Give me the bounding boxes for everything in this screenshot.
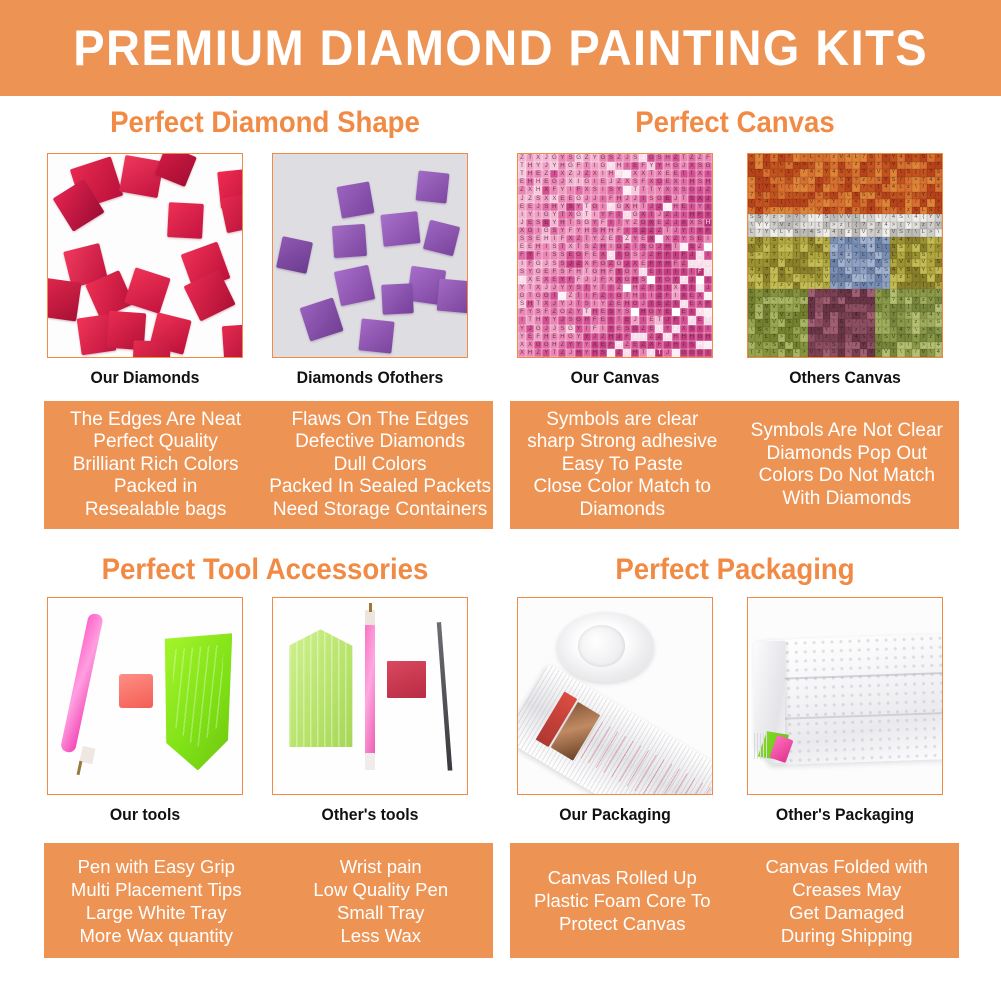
section-heading-diamond-shape: Perfect Diamond Shape xyxy=(58,106,472,140)
panel-line: Easy To Paste xyxy=(562,454,683,477)
panel-line: Pen with Easy Grip xyxy=(78,855,235,878)
red-diamonds-art xyxy=(48,154,242,357)
panel-line: Wrist pain xyxy=(340,855,422,878)
photo-others-packaging xyxy=(747,597,943,795)
caption-our-packaging: Our Packaging xyxy=(524,805,706,825)
panel-line: More Wax quantity xyxy=(79,924,233,947)
panel-col-theirs: Flaws On The Edges Defective Diamonds Du… xyxy=(267,401,493,529)
panel-line: Diamonds xyxy=(579,499,665,522)
panel-line: Close Color Match to xyxy=(534,476,711,499)
caption-our-canvas: Our Canvas xyxy=(524,368,706,388)
purple-diamonds-art xyxy=(273,154,467,357)
our-tools-art xyxy=(48,598,242,794)
panel-line: With Diamonds xyxy=(782,488,911,511)
panel-line: Need Storage Containers xyxy=(273,499,487,522)
panel-diamond-shape: The Edges Are Neat Perfect Quality Brill… xyxy=(44,401,493,529)
panel-tools: Pen with Easy Grip Multi Placement Tips … xyxy=(44,843,493,958)
panel-line: Symbols Are Not Clear xyxy=(751,420,943,443)
panel-line: Packed In Sealed Packets xyxy=(269,476,491,499)
page-banner: PREMIUM DIAMOND PAINTING KITS xyxy=(0,0,1001,96)
panel-line: Packed in xyxy=(114,476,197,499)
panel-col-theirs: Wrist pain Low Quality Pen Small Tray Le… xyxy=(269,843,494,958)
panel-line: Plastic Foam Core To xyxy=(534,889,711,912)
photo-others-tools xyxy=(272,597,468,795)
panel-line: Small Tray xyxy=(337,901,424,924)
panel-col-ours: Canvas Rolled Up Plastic Foam Core To Pr… xyxy=(510,843,735,958)
photo-diamonds-ofothers xyxy=(272,153,468,358)
panel-packaging: Canvas Rolled Up Plastic Foam Core To Pr… xyxy=(510,843,959,958)
panel-line: Creases May xyxy=(792,878,901,901)
our-packaging-art xyxy=(518,598,712,794)
panel-line: Canvas Folded with xyxy=(766,855,928,878)
panel-line: Get Damaged xyxy=(789,901,904,924)
photo-our-tools xyxy=(47,597,243,795)
panel-line: Brilliant Rich Colors xyxy=(73,454,239,477)
section-heading-packaging: Perfect Packaging xyxy=(528,553,942,587)
panel-line: Colors Do Not Match xyxy=(759,465,935,488)
caption-others-tools: Other's tools xyxy=(279,805,461,825)
others-tools-art xyxy=(273,598,467,794)
caption-others-packaging: Other's Packaging xyxy=(754,805,936,825)
photo-our-diamonds xyxy=(47,153,243,358)
section-heading-canvas: Perfect Canvas xyxy=(528,106,942,140)
panel-line: Perfect Quality xyxy=(93,431,218,454)
muddy-symbol-grid-art: <7/z<7\>L</zV4L7S\<Y4\<SL>V/{YLVSSV{S>\\… xyxy=(748,154,942,357)
panel-col-ours: Pen with Easy Grip Multi Placement Tips … xyxy=(44,843,269,958)
panel-line: Flaws On The Edges xyxy=(292,409,469,432)
panel-line: Canvas Rolled Up xyxy=(548,866,697,889)
panel-line: Resealable bags xyxy=(85,499,227,522)
photo-our-packaging xyxy=(517,597,713,795)
panel-line: Less Wax xyxy=(340,924,421,947)
panel-canvas: Symbols are clear sharp Strong adhesive … xyxy=(510,401,959,529)
page-title: PREMIUM DIAMOND PAINTING KITS xyxy=(73,19,928,77)
caption-our-tools: Our tools xyxy=(54,805,236,825)
panel-col-theirs: Symbols Are Not Clear Diamonds Pop Out C… xyxy=(735,401,960,529)
panel-line: Defective Diamonds xyxy=(295,431,465,454)
panel-line: During Shipping xyxy=(781,924,913,947)
photo-our-canvas: ZTXJGYSGZYGSZJSJGSHZTZZFTHYJYHGFTIGYHIEF… xyxy=(517,153,713,358)
panel-line: sharp Strong adhesive xyxy=(527,431,717,454)
pink-symbol-grid-art: ZTXJGYSGZYGSZJSJGSHZTZZFTHYJYHGFTIGYHIEF… xyxy=(518,154,712,357)
caption-our-diamonds: Our Diamonds xyxy=(54,368,236,388)
panel-line: Low Quality Pen xyxy=(313,878,448,901)
section-heading-tools: Perfect Tool Accessories xyxy=(58,553,472,587)
panel-line: The Edges Are Neat xyxy=(70,409,241,432)
panel-line: Symbols are clear xyxy=(546,409,698,432)
panel-col-ours: Symbols are clear sharp Strong adhesive … xyxy=(510,401,735,529)
panel-line: Protect Canvas xyxy=(559,912,685,935)
caption-diamonds-ofothers: Diamonds Ofothers xyxy=(279,368,461,388)
panel-line: Diamonds Pop Out xyxy=(766,443,927,466)
panel-line: Multi Placement Tips xyxy=(71,878,242,901)
others-packaging-art xyxy=(748,598,942,794)
panel-col-theirs: Canvas Folded with Creases May Get Damag… xyxy=(735,843,960,958)
panel-line: Large White Tray xyxy=(86,901,227,924)
infographic-page: PREMIUM DIAMOND PAINTING KITS Perfect Di… xyxy=(0,0,1001,1001)
panel-line: Dull Colors xyxy=(334,454,427,477)
photo-others-canvas: <7/z<7\>L</zV4L7S\<Y4\<SL>V/{YLVSSV{S>\\… xyxy=(747,153,943,358)
panel-col-ours: The Edges Are Neat Perfect Quality Brill… xyxy=(44,401,267,529)
caption-others-canvas: Others Canvas xyxy=(754,368,936,388)
